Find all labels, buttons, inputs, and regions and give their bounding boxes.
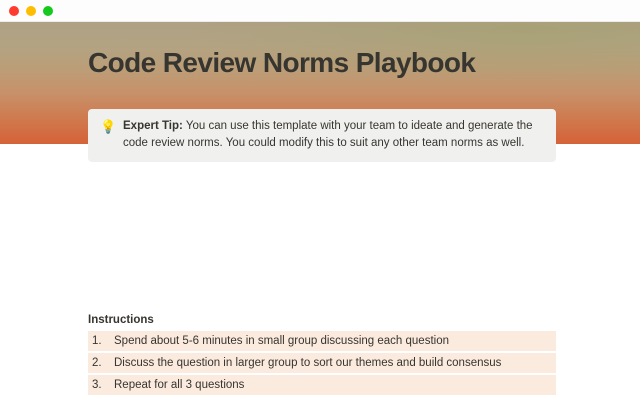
maximize-window-button[interactable] (43, 6, 53, 16)
list-item-label: Spend about 5-6 minutes in small group d… (114, 335, 449, 347)
list-item[interactable]: 2. Discuss the question in larger group … (88, 353, 556, 373)
lightbulb-icon: 💡 (100, 118, 118, 135)
callout-text: Expert Tip: You can use this template wi… (118, 118, 542, 152)
close-window-button[interactable] (9, 6, 19, 16)
callout-body: You can use this template with your team… (123, 120, 533, 149)
callout-label: Expert Tip: (123, 120, 183, 132)
list-item[interactable]: 1. Spend about 5-6 minutes in small grou… (88, 331, 556, 351)
page-title: Code Review Norms Playbook (88, 47, 475, 79)
list-item-number: 3. (92, 375, 108, 395)
instructions-heading: Instructions (88, 313, 154, 327)
list-item[interactable]: 3. Repeat for all 3 questions (88, 375, 556, 395)
list-item-label: Discuss the question in larger group to … (114, 357, 501, 369)
instructions-list: 1. Spend about 5-6 minutes in small grou… (88, 331, 556, 397)
expert-tip-callout[interactable]: 💡 Expert Tip: You can use this template … (88, 109, 556, 162)
minimize-window-button[interactable] (26, 6, 36, 16)
list-item-label: Repeat for all 3 questions (114, 379, 244, 391)
window-titlebar (0, 0, 640, 22)
app-window: Code Review Norms Playbook 💡 Expert Tip:… (0, 0, 640, 400)
list-item-number: 2. (92, 353, 108, 373)
list-item-number: 1. (92, 331, 108, 351)
